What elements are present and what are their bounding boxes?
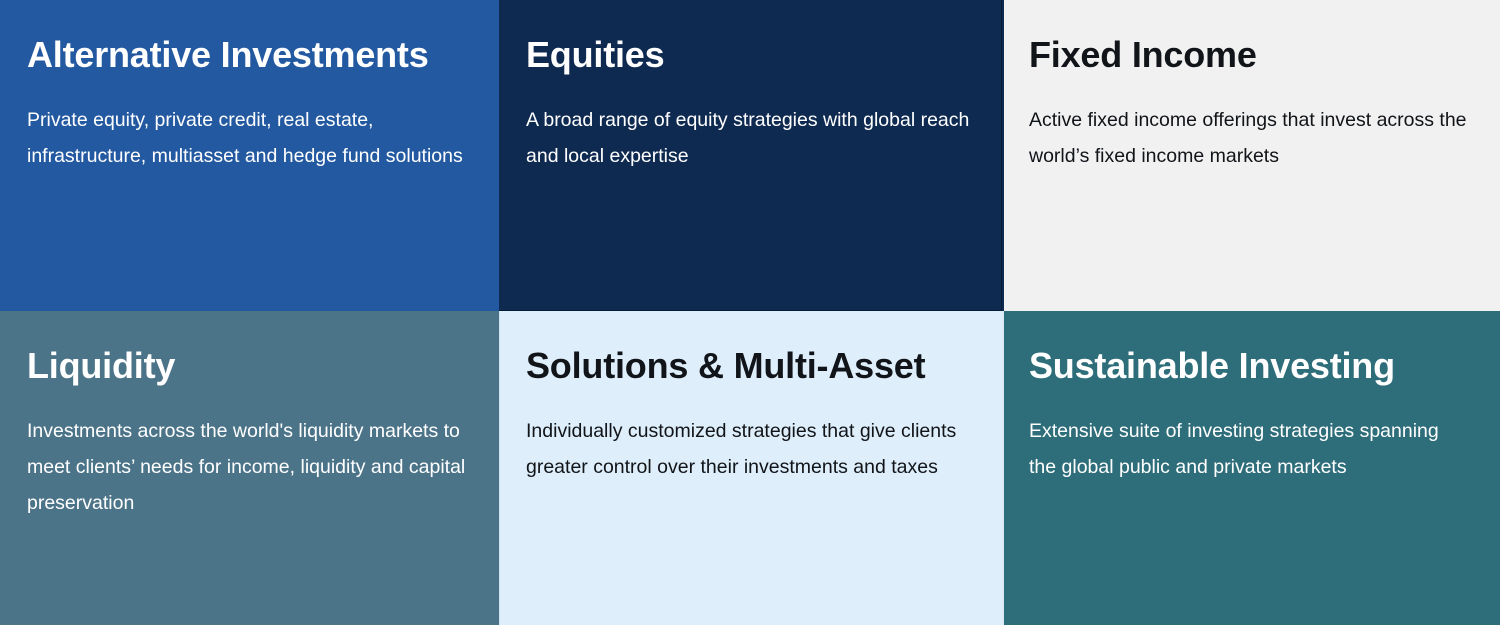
capability-card-solutions-multi-asset[interactable]: Solutions & Multi-Asset Individually cus…	[499, 311, 1002, 625]
card-title: Alternative Investments	[27, 33, 469, 77]
card-title: Sustainable Investing	[1029, 344, 1470, 388]
card-title: Equities	[526, 33, 972, 77]
card-title: Fixed Income	[1029, 33, 1470, 77]
capability-card-sustainable-investing[interactable]: Sustainable Investing Extensive suite of…	[1002, 311, 1500, 625]
card-description: Extensive suite of investing strategies …	[1029, 413, 1470, 485]
card-description: Investments across the world's liquidity…	[27, 413, 469, 521]
card-description: Individually customized strategies that …	[526, 413, 972, 485]
card-description: A broad range of equity strategies with …	[526, 102, 972, 174]
capability-card-liquidity[interactable]: Liquidity Investments across the world's…	[0, 311, 499, 625]
capability-grid: Alternative Investments Private equity, …	[0, 0, 1500, 625]
card-title: Liquidity	[27, 344, 469, 388]
card-description: Active fixed income offerings that inves…	[1029, 102, 1470, 174]
card-description: Private equity, private credit, real est…	[27, 102, 469, 174]
capability-card-fixed-income[interactable]: Fixed Income Active fixed income offerin…	[1002, 0, 1500, 311]
capability-card-alternative-investments[interactable]: Alternative Investments Private equity, …	[0, 0, 499, 311]
card-title: Solutions & Multi-Asset	[526, 344, 972, 388]
capability-card-equities[interactable]: Equities A broad range of equity strateg…	[499, 0, 1002, 311]
